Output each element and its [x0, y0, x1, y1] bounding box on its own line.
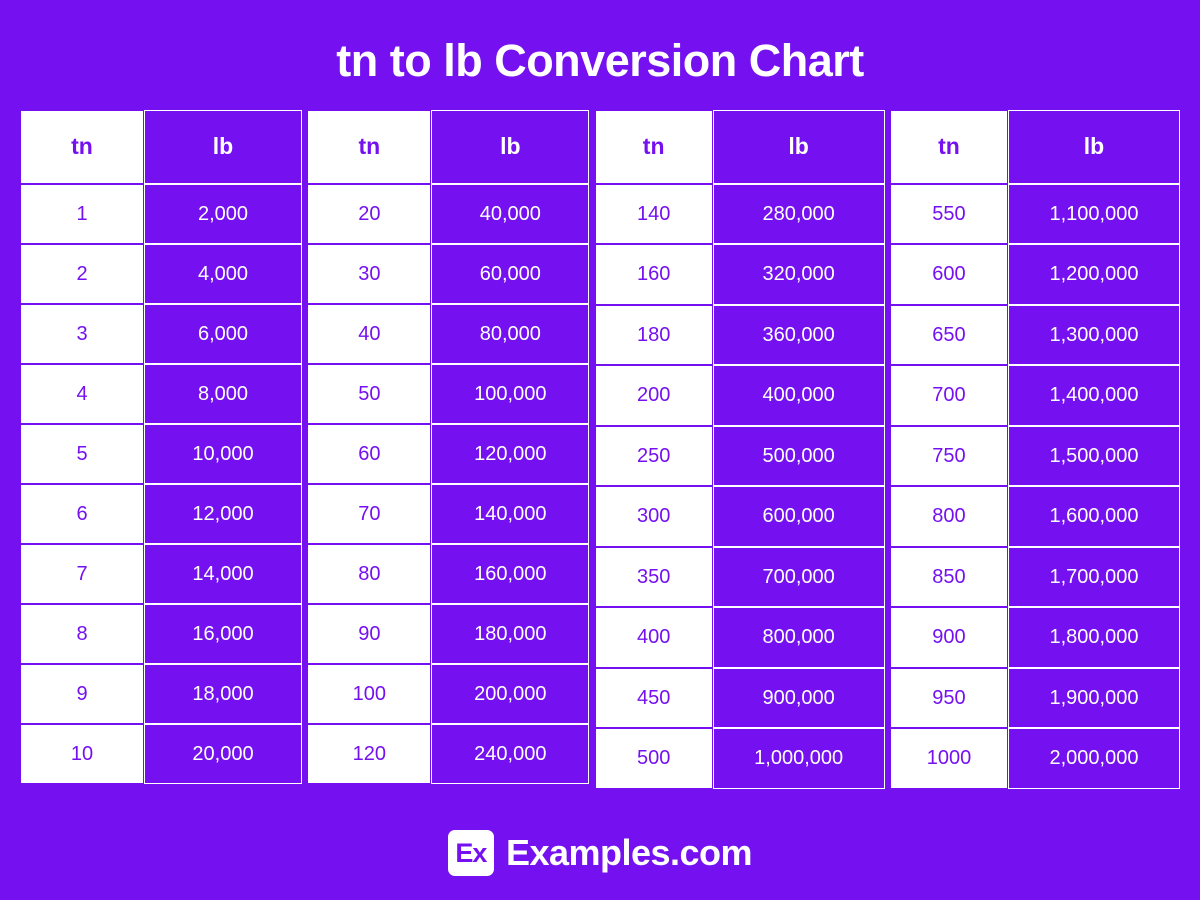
column-header-lb: lb: [144, 110, 302, 184]
cell-tn-value: 750: [890, 426, 1008, 487]
cell-tn-value: 250: [595, 426, 713, 487]
cell-lb-value: 800,000: [713, 607, 885, 668]
cell-tn-value: 30: [307, 244, 431, 304]
table-row: 3060,000: [307, 244, 589, 304]
cell-tn-value: 950: [890, 668, 1008, 729]
table-row: 816,000: [20, 604, 302, 664]
column-header-lb: lb: [713, 110, 885, 184]
cell-lb-value: 1,000,000: [713, 728, 885, 789]
cell-lb-value: 100,000: [431, 364, 589, 424]
cell-tn-value: 1000: [890, 728, 1008, 789]
cell-tn-value: 850: [890, 547, 1008, 608]
cell-tn-value: 140: [595, 184, 713, 245]
cell-lb-value: 360,000: [713, 305, 885, 366]
table-row: 8001,600,000: [890, 486, 1180, 547]
table-row: 350700,000: [595, 547, 885, 608]
cell-lb-value: 2,000,000: [1008, 728, 1180, 789]
cell-lb-value: 1,500,000: [1008, 426, 1180, 487]
table-row: 8501,700,000: [890, 547, 1180, 608]
column-header-tn: tn: [890, 110, 1008, 184]
cell-tn-value: 350: [595, 547, 713, 608]
table-row: 1020,000: [20, 724, 302, 784]
cell-tn-value: 400: [595, 607, 713, 668]
table-header-row: tnlb: [595, 110, 885, 184]
cell-tn-value: 8: [20, 604, 144, 664]
cell-tn-value: 300: [595, 486, 713, 547]
cell-lb-value: 700,000: [713, 547, 885, 608]
cell-lb-value: 280,000: [713, 184, 885, 245]
table-row: 24,000: [20, 244, 302, 304]
table-row: 5001,000,000: [595, 728, 885, 789]
column-header-lb: lb: [431, 110, 589, 184]
cell-tn-value: 4: [20, 364, 144, 424]
table-row: 50100,000: [307, 364, 589, 424]
cell-tn-value: 700: [890, 365, 1008, 426]
cell-lb-value: 80,000: [431, 304, 589, 364]
table-row: 2040,000: [307, 184, 589, 244]
table-row: 200400,000: [595, 365, 885, 426]
table-row: 160320,000: [595, 244, 885, 305]
cell-tn-value: 100: [307, 664, 431, 724]
table-row: 4080,000: [307, 304, 589, 364]
cell-lb-value: 1,100,000: [1008, 184, 1180, 245]
cell-tn-value: 2: [20, 244, 144, 304]
table-row: 90180,000: [307, 604, 589, 664]
table-row: 10002,000,000: [890, 728, 1180, 789]
cell-lb-value: 1,800,000: [1008, 607, 1180, 668]
cell-lb-value: 900,000: [713, 668, 885, 729]
cell-lb-value: 200,000: [431, 664, 589, 724]
table-row: 9001,800,000: [890, 607, 1180, 668]
conversion-table-4: tnlb5501,100,0006001,200,0006501,300,000…: [890, 110, 1180, 789]
column-header-tn: tn: [307, 110, 431, 184]
table-row: 5501,100,000: [890, 184, 1180, 245]
table-row: 9501,900,000: [890, 668, 1180, 729]
cell-lb-value: 160,000: [431, 544, 589, 604]
cell-lb-value: 8,000: [144, 364, 302, 424]
cell-tn-value: 5: [20, 424, 144, 484]
cell-lb-value: 1,400,000: [1008, 365, 1180, 426]
cell-tn-value: 160: [595, 244, 713, 305]
cell-lb-value: 600,000: [713, 486, 885, 547]
cell-tn-value: 10: [20, 724, 144, 784]
conversion-chart-page: tn to lb Conversion Chart tnlb12,00024,0…: [0, 0, 1200, 900]
cell-tn-value: 70: [307, 484, 431, 544]
table-row: 6001,200,000: [890, 244, 1180, 305]
conversion-table-3: tnlb140280,000160320,000180360,000200400…: [595, 110, 885, 789]
table-row: 60120,000: [307, 424, 589, 484]
cell-lb-value: 4,000: [144, 244, 302, 304]
table-row: 400800,000: [595, 607, 885, 668]
cell-tn-value: 800: [890, 486, 1008, 547]
table-header-row: tnlb: [307, 110, 589, 184]
cell-lb-value: 14,000: [144, 544, 302, 604]
cell-tn-value: 7: [20, 544, 144, 604]
table-row: 300600,000: [595, 486, 885, 547]
cell-lb-value: 180,000: [431, 604, 589, 664]
table-row: 918,000: [20, 664, 302, 724]
cell-lb-value: 1,700,000: [1008, 547, 1180, 608]
cell-lb-value: 18,000: [144, 664, 302, 724]
table-row: 180360,000: [595, 305, 885, 366]
cell-lb-value: 120,000: [431, 424, 589, 484]
conversion-table-2: tnlb2040,0003060,0004080,00050100,000601…: [307, 110, 589, 784]
cell-tn-value: 200: [595, 365, 713, 426]
cell-lb-value: 1,900,000: [1008, 668, 1180, 729]
table-row: 612,000: [20, 484, 302, 544]
column-header-lb: lb: [1008, 110, 1180, 184]
cell-lb-value: 1,600,000: [1008, 486, 1180, 547]
cell-tn-value: 500: [595, 728, 713, 789]
cell-tn-value: 600: [890, 244, 1008, 305]
cell-tn-value: 1: [20, 184, 144, 244]
cell-lb-value: 16,000: [144, 604, 302, 664]
table-row: 7501,500,000: [890, 426, 1180, 487]
examples-logo-text: Examples.com: [506, 832, 752, 874]
table-row: 70140,000: [307, 484, 589, 544]
cell-lb-value: 500,000: [713, 426, 885, 487]
table-row: 6501,300,000: [890, 305, 1180, 366]
table-row: 12,000: [20, 184, 302, 244]
cell-tn-value: 40: [307, 304, 431, 364]
column-header-tn: tn: [20, 110, 144, 184]
examples-logo-icon: Ex: [448, 830, 494, 876]
table-row: 48,000: [20, 364, 302, 424]
table-row: 250500,000: [595, 426, 885, 487]
cell-tn-value: 180: [595, 305, 713, 366]
cell-lb-value: 20,000: [144, 724, 302, 784]
table-row: 7001,400,000: [890, 365, 1180, 426]
table-row: 450900,000: [595, 668, 885, 729]
cell-tn-value: 450: [595, 668, 713, 729]
cell-tn-value: 650: [890, 305, 1008, 366]
cell-tn-value: 80: [307, 544, 431, 604]
cell-lb-value: 12,000: [144, 484, 302, 544]
cell-tn-value: 50: [307, 364, 431, 424]
cell-lb-value: 6,000: [144, 304, 302, 364]
cell-tn-value: 3: [20, 304, 144, 364]
table-row: 80160,000: [307, 544, 589, 604]
table-header-row: tnlb: [890, 110, 1180, 184]
table-row: 140280,000: [595, 184, 885, 245]
cell-lb-value: 2,000: [144, 184, 302, 244]
cell-lb-value: 320,000: [713, 244, 885, 305]
table-row: 714,000: [20, 544, 302, 604]
cell-lb-value: 40,000: [431, 184, 589, 244]
cell-lb-value: 10,000: [144, 424, 302, 484]
table-row: 510,000: [20, 424, 302, 484]
cell-lb-value: 400,000: [713, 365, 885, 426]
cell-tn-value: 60: [307, 424, 431, 484]
footer-branding: Ex Examples.com: [0, 830, 1200, 876]
cell-lb-value: 1,200,000: [1008, 244, 1180, 305]
cell-tn-value: 9: [20, 664, 144, 724]
cell-lb-value: 140,000: [431, 484, 589, 544]
table-header-row: tnlb: [20, 110, 302, 184]
cell-tn-value: 550: [890, 184, 1008, 245]
cell-tn-value: 6: [20, 484, 144, 544]
tables-container: tnlb12,00024,00036,00048,000510,000612,0…: [0, 110, 1200, 789]
cell-tn-value: 900: [890, 607, 1008, 668]
table-row: 120240,000: [307, 724, 589, 784]
cell-tn-value: 120: [307, 724, 431, 784]
table-row: 36,000: [20, 304, 302, 364]
page-title: tn to lb Conversion Chart: [0, 0, 1200, 86]
cell-tn-value: 90: [307, 604, 431, 664]
cell-tn-value: 20: [307, 184, 431, 244]
column-header-tn: tn: [595, 110, 713, 184]
conversion-table-1: tnlb12,00024,00036,00048,000510,000612,0…: [20, 110, 302, 784]
cell-lb-value: 1,300,000: [1008, 305, 1180, 366]
cell-lb-value: 240,000: [431, 724, 589, 784]
table-row: 100200,000: [307, 664, 589, 724]
cell-lb-value: 60,000: [431, 244, 589, 304]
